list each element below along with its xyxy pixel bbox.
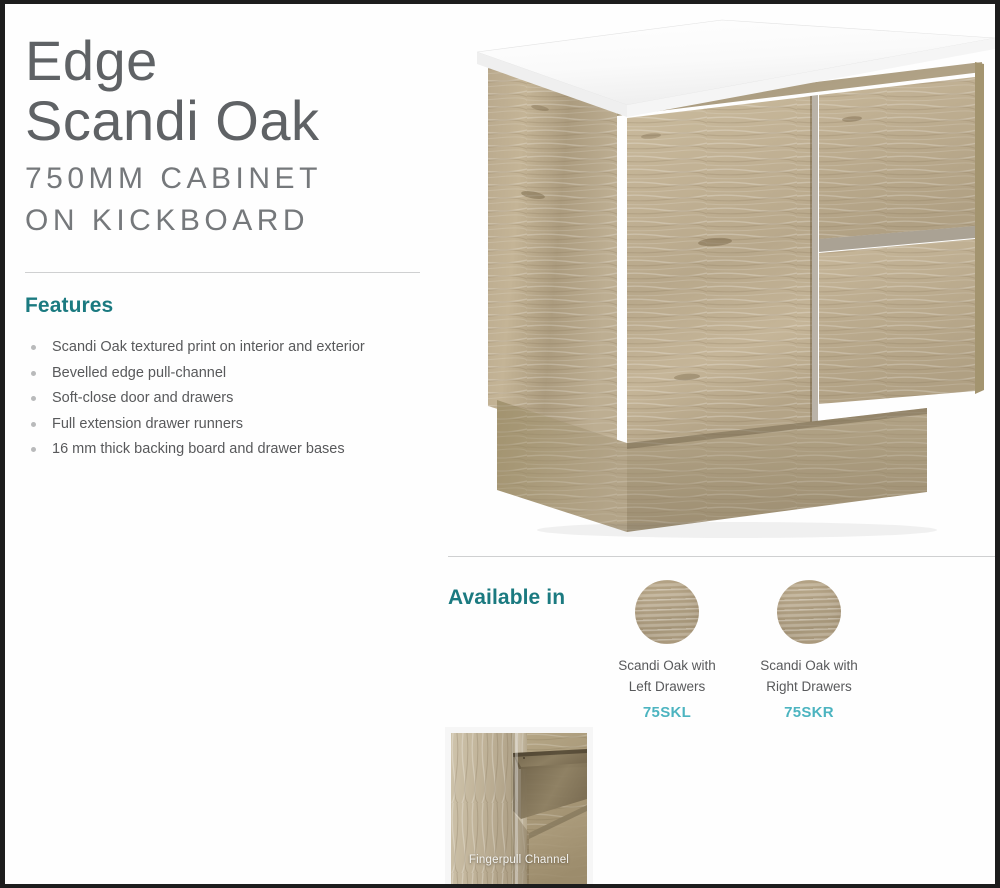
- swatch-label-line-2: Right Drawers: [739, 676, 879, 697]
- feature-text: 16 mm thick backing board and drawer bas…: [52, 441, 345, 457]
- bullet-icon: [31, 447, 36, 452]
- product-subtitle-line-2: ON KICKBOARD: [25, 200, 425, 242]
- swatch-label: Scandi Oak with Right Drawers: [739, 655, 879, 697]
- feature-text: Soft-close door and drawers: [52, 390, 233, 406]
- colour-option-left-drawers[interactable]: Scandi Oak with Left Drawers 75SKL: [597, 580, 737, 721]
- product-subtitle-line-1: 750MM CABINET: [25, 158, 425, 200]
- list-item: 16 mm thick backing board and drawer bas…: [25, 437, 425, 463]
- features-heading: Features: [25, 294, 425, 318]
- list-item: Full extension drawer runners: [25, 412, 425, 438]
- photo-caption: Fingerpull Channel: [451, 854, 587, 866]
- bullet-icon: [31, 396, 36, 401]
- colour-option-right-drawers[interactable]: Scandi Oak with Right Drawers 75SKR: [739, 580, 879, 721]
- feature-text: Full extension drawer runners: [52, 416, 243, 432]
- swatch-label-line-2: Left Drawers: [597, 676, 737, 697]
- cabinet-render: [437, 12, 995, 546]
- left-column: Edge Scandi Oak 750MM CABINET ON KICKBOA…: [25, 32, 425, 463]
- list-item: Soft-close door and drawers: [25, 386, 425, 412]
- scandi-oak-swatch-icon: [635, 580, 699, 644]
- swatch-label-line-1: Scandi Oak with: [597, 655, 737, 676]
- hero-product-image: [437, 12, 995, 546]
- section-divider: [448, 556, 995, 557]
- fingerpull-channel-photo: Fingerpull Channel: [445, 727, 593, 884]
- right-column: Available in Scandi Oak with Left Drawer…: [437, 4, 995, 884]
- bullet-icon: [31, 345, 36, 350]
- feature-text: Bevelled edge pull-channel: [52, 365, 226, 381]
- bullet-icon: [31, 371, 36, 376]
- product-name-line: Scandi Oak: [25, 92, 425, 150]
- fingerpull-gap-vertical: [810, 95, 818, 422]
- scandi-oak-swatch-icon: [777, 580, 841, 644]
- swatch-label: Scandi Oak with Left Drawers: [597, 655, 737, 697]
- features-list: Scandi Oak textured print on interior an…: [25, 335, 425, 463]
- product-code: 75SKL: [597, 704, 737, 721]
- swatch-label-line-1: Scandi Oak with: [739, 655, 879, 676]
- list-item: Scandi Oak textured print on interior an…: [25, 335, 425, 361]
- product-spec-sheet: Edge Scandi Oak 750MM CABINET ON KICKBOA…: [0, 0, 1000, 888]
- available-in-heading: Available in: [448, 586, 565, 610]
- product-brand-line: Edge: [25, 32, 425, 90]
- product-code: 75SKR: [739, 704, 879, 721]
- page-canvas: Edge Scandi Oak 750MM CABINET ON KICKBOA…: [5, 4, 995, 884]
- fingerpull-photo-frame: Fingerpull Channel: [451, 733, 587, 884]
- list-item: Bevelled edge pull-channel: [25, 361, 425, 387]
- feature-text: Scandi Oak textured print on interior an…: [52, 339, 365, 355]
- title-divider: [25, 272, 420, 273]
- product-title-block: Edge Scandi Oak 750MM CABINET ON KICKBOA…: [25, 32, 425, 242]
- bullet-icon: [31, 422, 36, 427]
